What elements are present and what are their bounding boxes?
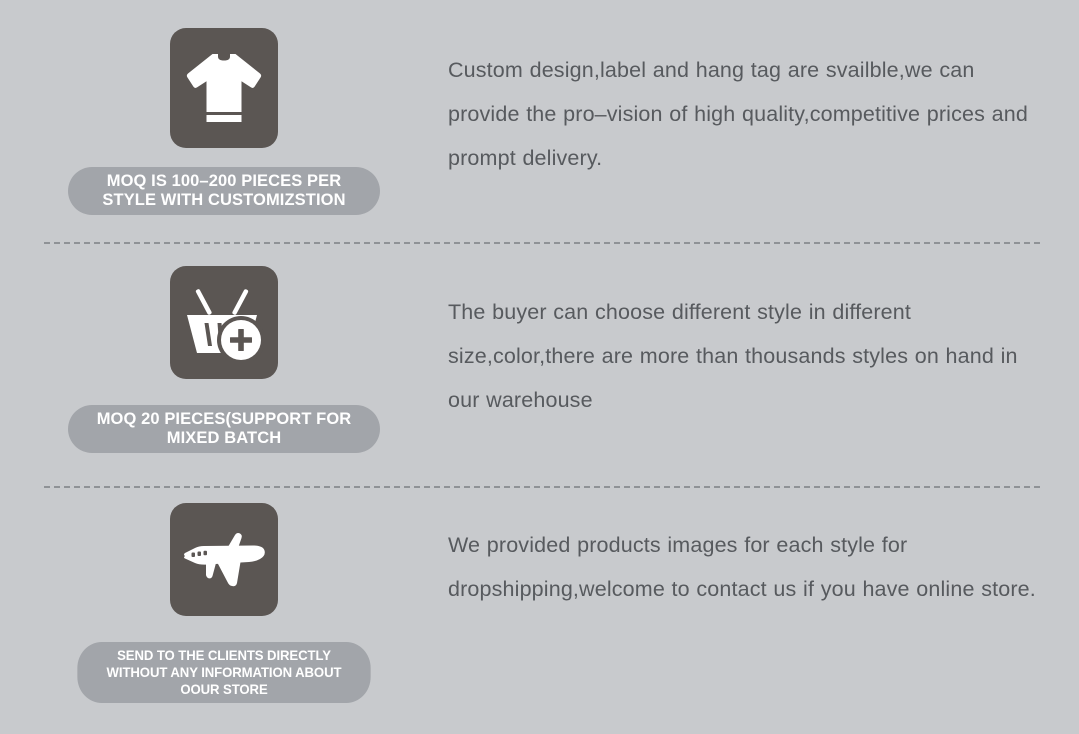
- feature-row: MOQ 20 PIECES(SUPPORT FOR MIXED BATCH Th…: [0, 266, 1079, 453]
- tshirt-icon-tile: [170, 28, 278, 148]
- airplane-icon: [181, 529, 267, 591]
- divider: [44, 486, 1040, 488]
- feature-left-column: MOQ IS 100–200 PIECES PER STYLE WITH CUS…: [0, 28, 448, 215]
- divider: [44, 242, 1040, 244]
- feature-list-page: MOQ IS 100–200 PIECES PER STYLE WITH CUS…: [0, 0, 1079, 734]
- basket-add-icon-tile: [170, 266, 278, 379]
- feature-left-column: SEND TO THE CLIENTS DIRECTLY WITHOUT ANY…: [0, 503, 448, 703]
- badge-dropship-no-branding: SEND TO THE CLIENTS DIRECTLY WITHOUT ANY…: [77, 642, 370, 703]
- basket-add-icon: [184, 285, 264, 361]
- badge-moq-mixed-batch: MOQ 20 PIECES(SUPPORT FOR MIXED BATCH: [68, 405, 380, 453]
- feature-description: Custom design,label and hang tag are sva…: [448, 28, 1079, 180]
- feature-left-column: MOQ 20 PIECES(SUPPORT FOR MIXED BATCH: [0, 266, 448, 453]
- tshirt-icon: [185, 52, 263, 124]
- feature-row: SEND TO THE CLIENTS DIRECTLY WITHOUT ANY…: [0, 503, 1079, 703]
- feature-row: MOQ IS 100–200 PIECES PER STYLE WITH CUS…: [0, 28, 1079, 215]
- badge-moq-customization: MOQ IS 100–200 PIECES PER STYLE WITH CUS…: [68, 167, 380, 215]
- feature-description: We provided products images for each sty…: [448, 503, 1079, 611]
- airplane-icon-tile: [170, 503, 278, 616]
- feature-description: The buyer can choose different style in …: [448, 266, 1079, 422]
